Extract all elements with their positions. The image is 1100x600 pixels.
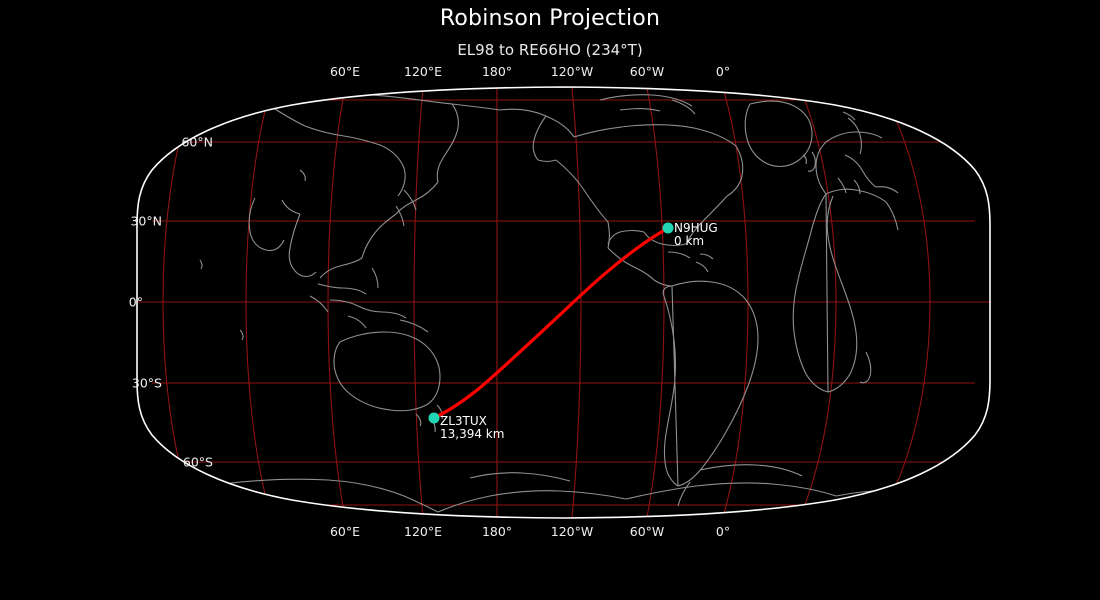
lon-tick-bottom-1: 120°E xyxy=(404,524,442,539)
lon-tick-bottom-0: 60°E xyxy=(330,524,360,539)
lon-tick-bottom-3: 120°W xyxy=(551,524,593,539)
station-marker-n9hug[interactable] xyxy=(663,223,674,234)
station-distance: 0 km xyxy=(674,235,718,248)
lon-tick-bottom-4: 60°W xyxy=(630,524,665,539)
lon-tick-top-0: 60°E xyxy=(330,64,360,79)
lat-tick-0: 60°N xyxy=(181,135,213,150)
lat-tick-3: 30°S xyxy=(132,376,162,391)
station-marker-zl3tux[interactable] xyxy=(429,413,440,424)
lon-tick-top-5: 0° xyxy=(716,64,730,79)
station-label-zl3tux: ZL3TUX13,394 km xyxy=(440,415,504,441)
world-map xyxy=(0,0,1100,600)
lon-tick-bottom-2: 180° xyxy=(482,524,512,539)
lon-tick-top-2: 180° xyxy=(482,64,512,79)
station-label-n9hug: N9HUG0 km xyxy=(674,222,718,248)
map-interior xyxy=(137,87,990,518)
lat-tick-4: 60°S xyxy=(183,455,213,470)
station-distance: 13,394 km xyxy=(440,428,504,441)
station-callsign: N9HUG xyxy=(674,221,718,235)
lat-tick-2: 0° xyxy=(129,295,143,310)
lon-tick-top-4: 60°W xyxy=(630,64,665,79)
lat-tick-1: 30°N xyxy=(130,214,162,229)
lon-tick-bottom-5: 0° xyxy=(716,524,730,539)
lon-tick-top-3: 120°W xyxy=(551,64,593,79)
station-callsign: ZL3TUX xyxy=(440,414,487,428)
map-figure: Robinson Projection EL98 to RE66HO (234°… xyxy=(0,0,1100,600)
lon-tick-top-1: 120°E xyxy=(404,64,442,79)
